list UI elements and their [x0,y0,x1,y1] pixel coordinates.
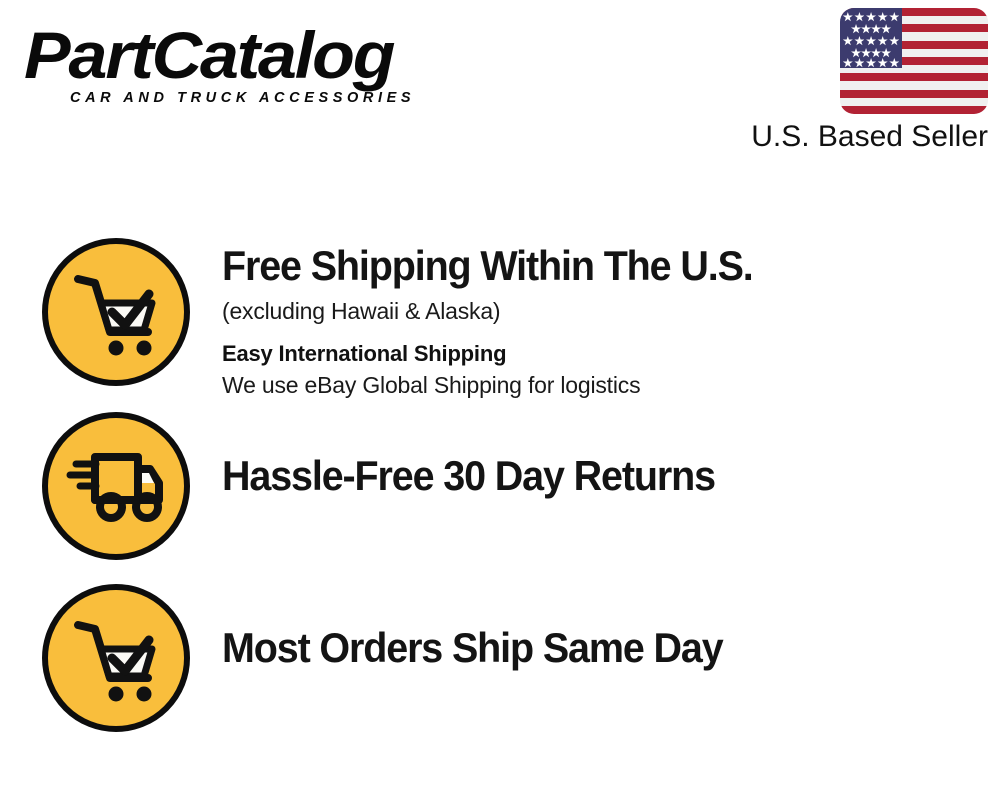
feature-text-block: Free Shipping Within The U.S. (excluding… [222,238,1000,400]
shopping-cart-check-icon [42,584,190,732]
brand-tagline: CAR AND TRUCK ACCESSORIES [70,90,494,106]
feature-text-block: Hassle-Free 30 Day Returns [222,412,1000,500]
brand-wordmark: PartCatalog [24,22,522,88]
us-based-seller-badge: U.S. Based Seller [688,8,988,154]
brand-logo: PartCatalog CAR AND TRUCK ACCESSORIES [24,22,494,106]
banner-header: PartCatalog CAR AND TRUCK ACCESSORIES [0,0,1000,170]
feature-subtitle-detail: We use eBay Global Shipping for logistic… [222,370,1000,400]
feature-item-returns: Hassle-Free 30 Day Returns [0,412,1000,560]
flag-canton [840,8,902,68]
feature-subtitle-strong: Easy International Shipping [222,340,1000,368]
feature-text-block: Most Orders Ship Same Day [222,584,1000,672]
seller-badge-label: U.S. Based Seller [688,120,988,154]
delivery-truck-icon [42,412,190,560]
feature-item-same-day-ship: Most Orders Ship Same Day [0,584,1000,732]
feature-subtitle: (excluding Hawaii & Alaska) [222,296,1000,326]
feature-title: Hassle-Free 30 Day Returns [222,452,953,500]
feature-item-free-shipping: Free Shipping Within The U.S. (excluding… [0,238,1000,400]
shopping-cart-check-icon [42,238,190,386]
us-flag-icon [840,8,988,114]
feature-title: Free Shipping Within The U.S. [222,242,953,290]
shipping-info-banner: PartCatalog CAR AND TRUCK ACCESSORIES [0,0,1000,800]
feature-title: Most Orders Ship Same Day [222,624,953,672]
